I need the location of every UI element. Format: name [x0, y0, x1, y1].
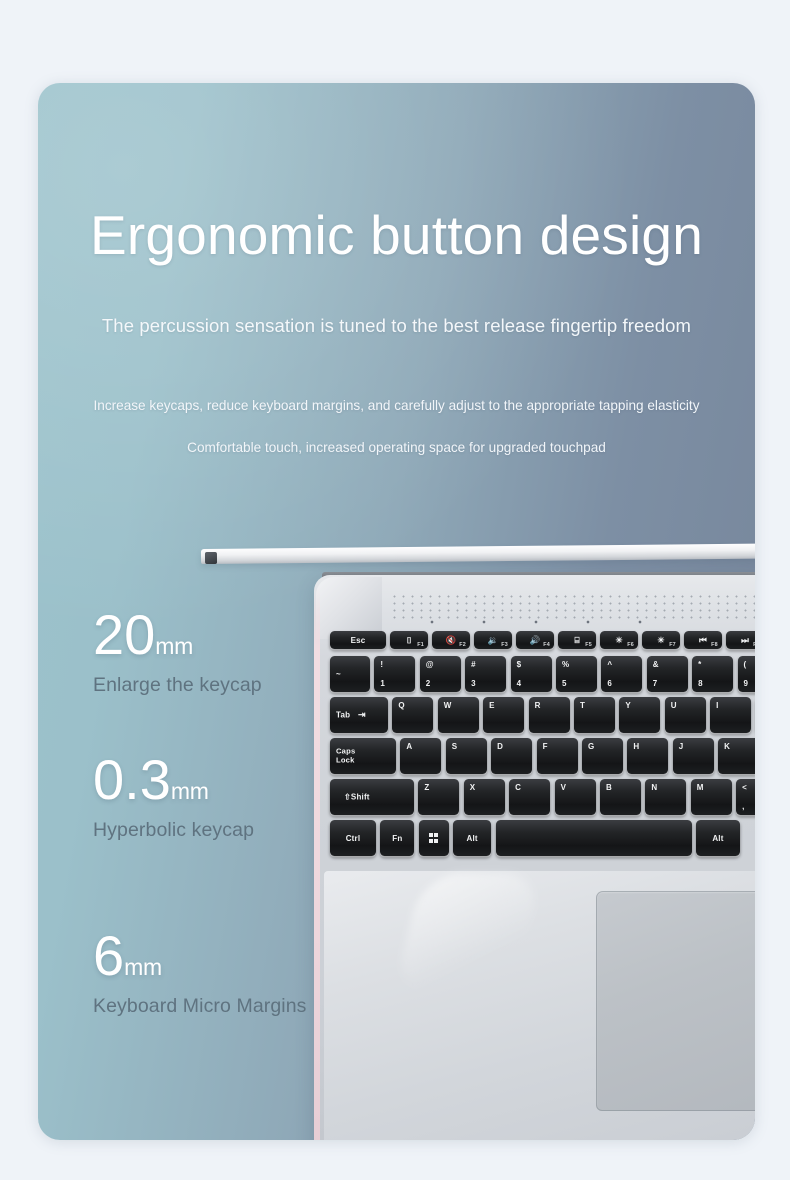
- key-label: G: [588, 742, 594, 751]
- key-label: U: [671, 701, 677, 710]
- key-fkey-label: F1: [417, 642, 424, 648]
- key-f5[interactable]: ⌸F5: [558, 631, 596, 649]
- key-space[interactable]: [496, 820, 692, 856]
- keyboard-caps-row: CapsLockASDFGHJKL: [330, 738, 755, 774]
- key-s[interactable]: S: [446, 738, 487, 774]
- key-q[interactable]: Q: [392, 697, 433, 733]
- key-i[interactable]: I: [710, 697, 751, 733]
- key-label: W: [444, 701, 452, 710]
- key-tab[interactable]: Tab⇥: [330, 697, 388, 733]
- key-windows[interactable]: [419, 820, 449, 856]
- key-label: R: [535, 701, 541, 710]
- key-icon-f1: ⌷: [407, 636, 412, 645]
- key-4[interactable]: $4: [511, 656, 552, 692]
- key-alt[interactable]: Alt: [453, 820, 491, 856]
- key-icon-f2: 🔇: [446, 636, 457, 645]
- key-label-lower: 7: [653, 679, 658, 688]
- key-label-lower: 4: [517, 679, 522, 688]
- key-label-upper: (: [744, 660, 747, 669]
- key-label: C: [515, 783, 521, 792]
- key-label: Fn: [392, 834, 402, 843]
- key-label: ⇧Shift: [344, 793, 370, 802]
- speaker-grille: [390, 593, 755, 621]
- key-8[interactable]: *8: [692, 656, 733, 692]
- key-b[interactable]: B: [600, 779, 641, 815]
- key-label: CapsLock: [336, 748, 355, 765]
- tab-arrow-icon: ⇥: [358, 710, 366, 721]
- key-y[interactable]: Y: [619, 697, 660, 733]
- key-label-lower: 5: [562, 679, 567, 688]
- spec-unit: mm: [155, 633, 193, 659]
- key-label: Z: [424, 783, 429, 792]
- key-icon-f8: ⏮: [699, 636, 707, 645]
- key-label-upper: @: [426, 660, 434, 669]
- key-fkey-label: F6: [627, 642, 634, 648]
- key-tilde[interactable]: ~: [330, 656, 370, 692]
- key-6[interactable]: ^6: [601, 656, 642, 692]
- key-fkey-label: F3: [501, 642, 508, 648]
- key-label: S: [452, 742, 458, 751]
- key-label-upper: &: [653, 660, 659, 669]
- key-k[interactable]: K: [718, 738, 755, 774]
- keyboard-shift-row: ⇧ShiftZXCVBNM<,:: [330, 779, 755, 815]
- key-label-upper: !: [380, 660, 383, 669]
- key-shift[interactable]: ⇧Shift: [330, 779, 414, 815]
- key-label: F: [543, 742, 548, 751]
- page-title: Ergonomic button design: [38, 203, 755, 267]
- key-n[interactable]: N: [645, 779, 686, 815]
- spec-value: 20: [93, 603, 155, 666]
- key-a[interactable]: A: [400, 738, 441, 774]
- key-label: N: [651, 783, 657, 792]
- key-esc[interactable]: Esc: [330, 631, 386, 649]
- key-label: A: [406, 742, 412, 751]
- key-z[interactable]: Z: [418, 779, 459, 815]
- trackpad[interactable]: [596, 891, 755, 1111]
- key-5[interactable]: %5: [556, 656, 597, 692]
- key-f[interactable]: F: [537, 738, 578, 774]
- key-label-lower: 1: [380, 679, 385, 688]
- key-3[interactable]: #3: [465, 656, 506, 692]
- key-label: Y: [625, 701, 631, 710]
- key-x[interactable]: X: [464, 779, 505, 815]
- key-u[interactable]: U: [665, 697, 706, 733]
- key-7[interactable]: &7: [647, 656, 688, 692]
- key-t[interactable]: T: [574, 697, 615, 733]
- key-f1[interactable]: ⌷F1: [390, 631, 428, 649]
- windows-icon: [429, 833, 438, 842]
- key-fkey-label: F4: [543, 642, 550, 648]
- key-label-lower: 3: [471, 679, 476, 688]
- key-v[interactable]: V: [555, 779, 596, 815]
- key-label: M: [697, 783, 704, 792]
- key-icon-f6: ☀: [615, 636, 623, 645]
- key-label-lower: 9: [744, 679, 749, 688]
- detail-line-1: Increase keycaps, reduce keyboard margin…: [38, 398, 755, 413]
- key-label-lower: 8: [698, 679, 703, 688]
- deck-corner: [316, 577, 382, 639]
- spec-item-hyperbolic-keycap: 0.3mm Hyperbolic keycap: [93, 752, 254, 842]
- key-label: Ctrl: [346, 834, 361, 843]
- key-f4[interactable]: 🔊F4: [516, 631, 554, 649]
- key-label: Tab: [336, 711, 350, 720]
- key-label-upper: *: [698, 660, 701, 669]
- key-<[interactable]: <,: [736, 779, 755, 815]
- key-ctrl[interactable]: Ctrl: [330, 820, 376, 856]
- lid-foot-icon: [205, 552, 217, 564]
- spec-caption: Keyboard Micro Margins: [93, 995, 307, 1018]
- key-icon-f4: 🔊: [530, 636, 541, 645]
- key-label: K: [724, 742, 730, 751]
- key-caps-lock[interactable]: CapsLock: [330, 738, 396, 774]
- key-fkey-label: F9: [753, 642, 755, 648]
- key-1[interactable]: !1: [374, 656, 415, 692]
- key-label-upper: <: [742, 783, 747, 792]
- key-label: H: [633, 742, 639, 751]
- key-g[interactable]: G: [582, 738, 623, 774]
- key-label: I: [716, 701, 718, 710]
- spec-value: 6: [93, 924, 124, 987]
- hero-card: Esc⌷F1🔇F2🔉F3🔊F4⌸F5☀F6☀F7⏮F8⏭F9 ~!1@2#3$4…: [38, 83, 755, 1140]
- key-label-upper: ^: [607, 660, 612, 669]
- key-9[interactable]: (9: [738, 656, 755, 692]
- key-label: E: [489, 701, 495, 710]
- key-label: Alt: [712, 834, 723, 843]
- key-label: ~: [336, 670, 341, 679]
- key-fn[interactable]: Fn: [380, 820, 414, 856]
- spec-value: 0.3: [93, 748, 171, 811]
- key-label: Q: [398, 701, 404, 710]
- spec-caption: Hyperbolic keycap: [93, 819, 254, 842]
- card-clip: Esc⌷F1🔇F2🔉F3🔊F4⌸F5☀F6☀F7⏮F8⏭F9 ~!1@2#3$4…: [38, 83, 755, 1140]
- keyboard-number-row: ~!1@2#3$4%5^6&7*8(9: [330, 656, 755, 692]
- key-label: X: [470, 783, 476, 792]
- key-f6[interactable]: ☀F6: [600, 631, 638, 649]
- page-root: Esc⌷F1🔇F2🔉F3🔊F4⌸F5☀F6☀F7⏮F8⏭F9 ~!1@2#3$4…: [0, 0, 790, 1180]
- key-fkey-label: F7: [669, 642, 676, 648]
- deck-left-chamfer: [314, 583, 320, 1140]
- detail-line-2: Comfortable touch, increased operating s…: [38, 440, 755, 455]
- key-f8[interactable]: ⏮F8: [684, 631, 722, 649]
- key-w[interactable]: W: [438, 697, 479, 733]
- key-label-upper: #: [471, 660, 476, 669]
- key-f2[interactable]: 🔇F2: [432, 631, 470, 649]
- key-j[interactable]: J: [673, 738, 714, 774]
- key-c[interactable]: C: [509, 779, 550, 815]
- spec-unit: mm: [124, 954, 162, 980]
- key-f3[interactable]: 🔉F3: [474, 631, 512, 649]
- key-icon-f3: 🔉: [488, 636, 499, 645]
- key-label: Esc: [351, 636, 366, 645]
- spec-unit: mm: [171, 778, 209, 804]
- keyboard: Esc⌷F1🔇F2🔉F3🔊F4⌸F5☀F6☀F7⏮F8⏭F9 ~!1@2#3$4…: [330, 631, 755, 863]
- key-label-lower: 2: [426, 679, 431, 688]
- key-label: Alt: [467, 834, 478, 843]
- speaker-grille-accent: [406, 619, 666, 625]
- key-fkey-label: F5: [585, 642, 592, 648]
- subtitle: The percussion sensation is tuned to the…: [38, 315, 755, 337]
- key-label: T: [580, 701, 585, 710]
- key-label-lower: 6: [607, 679, 612, 688]
- spec-caption: Enlarge the keycap: [93, 674, 262, 697]
- key-icon-f5: ⌸: [574, 636, 579, 645]
- keyboard-function-row: Esc⌷F1🔇F2🔉F3🔊F4⌸F5☀F6☀F7⏮F8⏭F9: [330, 631, 755, 649]
- key-alt[interactable]: Alt: [696, 820, 740, 856]
- key-label: J: [679, 742, 684, 751]
- key-label: B: [606, 783, 612, 792]
- key-d[interactable]: D: [491, 738, 532, 774]
- key-icon-f9: ⏭: [741, 636, 749, 645]
- key-label-upper: $: [517, 660, 522, 669]
- key-r[interactable]: R: [529, 697, 570, 733]
- key-fkey-label: F2: [459, 642, 466, 648]
- keyboard-bottom-row: CtrlFnAltAlt: [330, 820, 740, 856]
- key-fkey-label: F8: [711, 642, 718, 648]
- key-label-lower: ,: [742, 802, 744, 811]
- spec-item-enlarge-keycap: 20mm Enlarge the keycap: [93, 607, 262, 697]
- key-2[interactable]: @2: [420, 656, 461, 692]
- spec-item-micro-margins: 6mm Keyboard Micro Margins: [93, 928, 307, 1018]
- key-label: D: [497, 742, 503, 751]
- key-m[interactable]: M: [691, 779, 732, 815]
- laptop-lid-edge: [201, 542, 755, 564]
- key-icon-f7: ☀: [657, 636, 665, 645]
- key-f7[interactable]: ☀F7: [642, 631, 680, 649]
- key-h[interactable]: H: [627, 738, 668, 774]
- key-e[interactable]: E: [483, 697, 524, 733]
- key-label-upper: %: [562, 660, 569, 669]
- key-f9[interactable]: ⏭F9: [726, 631, 755, 649]
- key-label: V: [561, 783, 567, 792]
- keyboard-tab-row: Tab⇥QWERTYUIO: [330, 697, 755, 733]
